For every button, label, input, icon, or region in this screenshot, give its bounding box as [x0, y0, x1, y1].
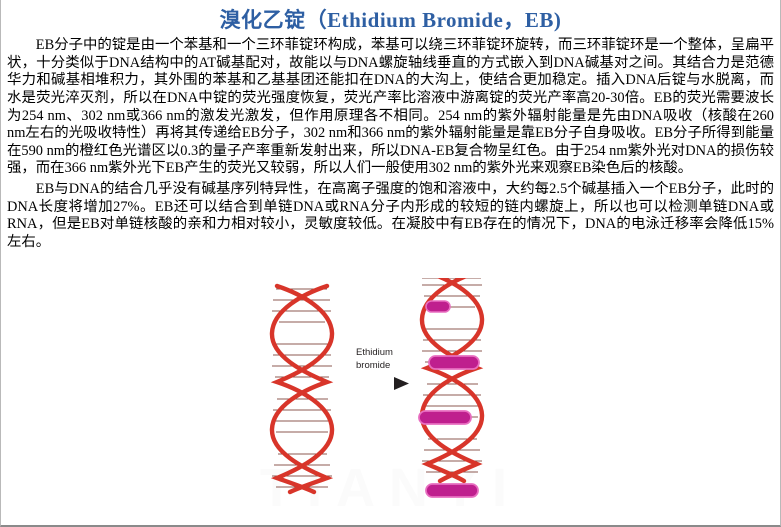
arrow-label-line2: bromide	[356, 360, 390, 371]
paragraph-2: EB与DNA的结合几乎没有碱基序列特异性，在高离子强度的饱和溶液中，大约每2.5…	[7, 181, 774, 251]
paragraph-1: EB分子中的锭是由一个苯基和一个三环菲锭环构成，苯基可以绕三环菲锭环旋转，而三环…	[7, 37, 774, 178]
eb-molecule	[426, 301, 450, 312]
base-pair-rungs-left	[272, 289, 332, 487]
reaction-arrow-group: Ethidium bromide	[342, 347, 409, 390]
arrow-head-icon	[394, 377, 409, 390]
eb-molecule	[426, 484, 478, 497]
document-body: EB分子中的锭是由一个苯基和一个三环菲锭环构成，苯基可以绕三环菲锭环旋转，而三环…	[1, 33, 780, 251]
free-dna-double-helix	[272, 286, 332, 492]
document-page: 溴化乙锭（Ethidium Bromide，EB) EB分子中的锭是由一个苯基和…	[0, 0, 781, 527]
arrow-label-line1: Ethidium	[356, 347, 393, 358]
eb-molecule	[429, 356, 479, 369]
figure-dna-intercalation: Ethidium bromide	[1, 278, 781, 525]
eb-intercalated-dna-double-helix	[419, 278, 482, 497]
eb-molecule	[419, 411, 471, 424]
page-title: 溴化乙锭（Ethidium Bromide，EB)	[1, 0, 780, 33]
